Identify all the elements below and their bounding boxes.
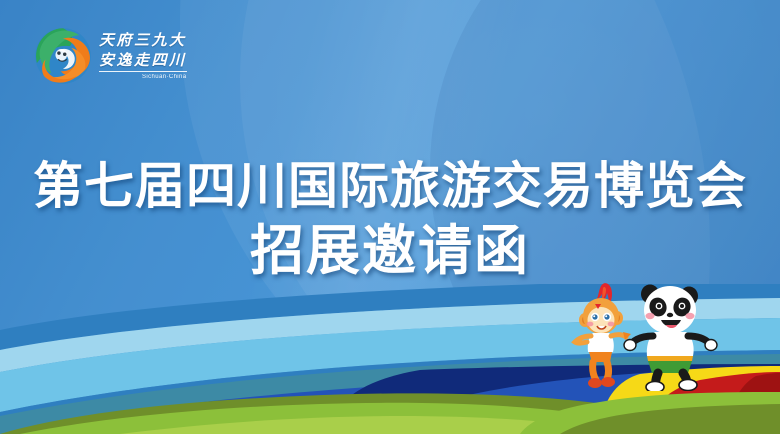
expo-invitation-banner: 天府三九大 安逸走四川 Sichuan·China 第七届四川国际旅游交易博览会… (0, 0, 780, 434)
panda-hand-left (624, 340, 636, 351)
monkey-eye-left-iris (592, 314, 597, 319)
panda-shoe-right (679, 380, 697, 391)
panda-cheek-left (646, 313, 655, 319)
monkey-eye-right-iris (604, 314, 609, 319)
monkey-shoe-left (588, 378, 602, 388)
panda-belt (647, 356, 693, 361)
brand-slogan-line-1: 天府三九大 (99, 34, 187, 49)
panda-eye-left-pupil (657, 304, 661, 308)
swirl-panda-logo-icon (34, 27, 92, 85)
monkey-cheek-left (587, 322, 594, 327)
monkey-arm-left (575, 336, 591, 343)
monkey-cheek-right (608, 322, 615, 327)
brand-slogan-line-2: 安逸走四川 (99, 54, 187, 72)
panda-eye-right-pupil (680, 304, 684, 308)
panda-hand-right (705, 340, 717, 351)
panda-cheek-right (686, 313, 695, 319)
monkey-leg-right (607, 362, 609, 379)
monkey-eye-right-glint (605, 315, 607, 317)
panda-nose (667, 313, 673, 317)
monkey-eye-left-glint (593, 315, 595, 317)
monkey-shoe-right (601, 377, 615, 387)
brand-english-label: Sichuan·China (99, 74, 187, 80)
mascot-group (565, 276, 735, 391)
panda-shoe-left (646, 382, 664, 392)
monkey-leg-left (593, 362, 596, 380)
brand-logo: 天府三九大 安逸走四川 Sichuan·China (34, 27, 187, 85)
monkey-mouth (597, 326, 606, 329)
brand-logo-text: 天府三九大 安逸走四川 Sichuan·China (99, 32, 187, 80)
monkey-mascot (575, 283, 631, 388)
banner-sub-title: 招展邀请函 (0, 206, 780, 285)
panda-mascot (624, 285, 717, 392)
